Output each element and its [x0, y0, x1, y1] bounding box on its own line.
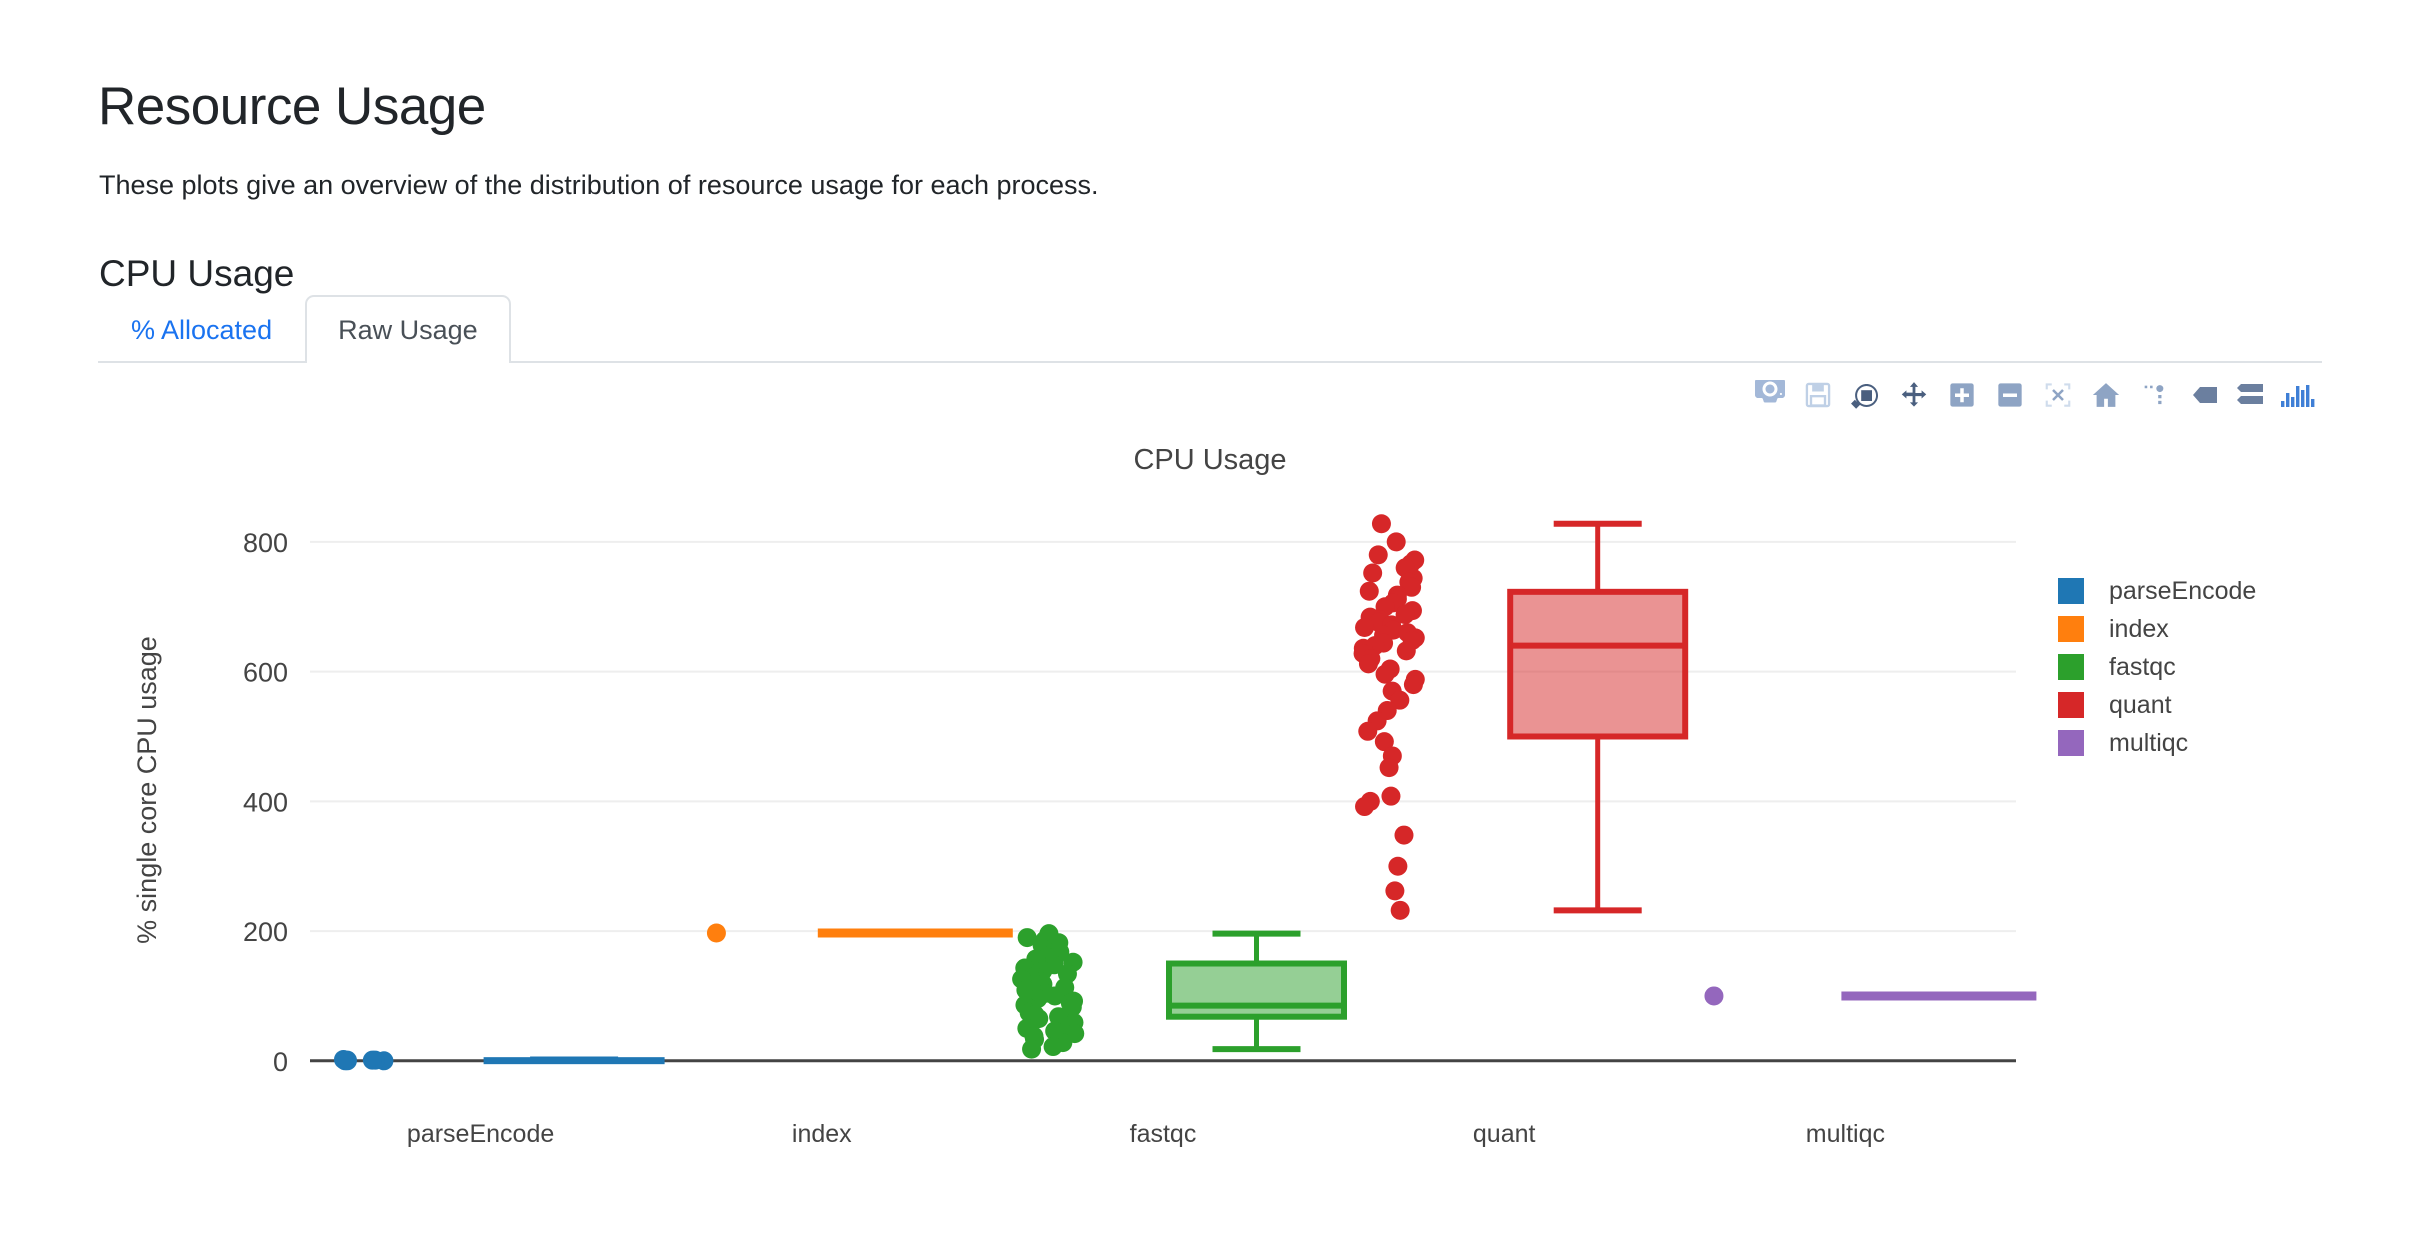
y-tick-200: 200: [243, 917, 288, 947]
legend-item-index[interactable]: index: [2058, 610, 2308, 648]
box-group-fastqc[interactable]: [1012, 924, 1344, 1058]
page-title: Resource Usage: [98, 78, 486, 136]
box-point: [1355, 618, 1374, 637]
box-point: [1363, 564, 1382, 583]
box-point: [363, 1051, 382, 1070]
tab-percent-allocated[interactable]: % Allocated: [98, 295, 305, 363]
legend-label-fastqc: fastqc: [2109, 653, 2176, 682]
box-point: [1388, 857, 1407, 876]
box-rect: [1510, 592, 1685, 737]
legend-item-fastqc[interactable]: fastqc: [2058, 648, 2308, 686]
box-plot-canvas[interactable]: 0200400600800% single core CPU usagepars…: [98, 372, 2322, 1172]
x-tick-parseEncode: parseEncode: [407, 1120, 554, 1148]
legend-swatch-index: [2058, 616, 2084, 642]
box-point: [1381, 787, 1400, 806]
chart-legend: parseEncode index fastqc quant multiqc: [2058, 572, 2308, 762]
cpu-usage-tabs: % Allocated Raw Usage: [98, 295, 2322, 363]
box-point: [1385, 881, 1404, 900]
legend-label-parseEncode: parseEncode: [2109, 577, 2256, 606]
x-tick-fastqc: fastqc: [1130, 1120, 1197, 1148]
box-point: [1387, 532, 1406, 551]
box-group-multiqc[interactable]: [1704, 986, 2036, 1005]
x-tick-quant: quant: [1473, 1120, 1536, 1148]
box-point: [1022, 1040, 1041, 1059]
box-point: [1358, 722, 1377, 741]
box-point: [1397, 641, 1416, 660]
box-point: [1376, 665, 1395, 684]
legend-item-quant[interactable]: quant: [2058, 686, 2308, 724]
y-axis-title: % single core CPU usage: [132, 636, 162, 944]
y-tick-0: 0: [273, 1047, 288, 1077]
box-point: [1369, 545, 1388, 564]
box-point: [1391, 901, 1410, 920]
y-tick-800: 800: [243, 528, 288, 558]
legend-swatch-parseEncode: [2058, 578, 2084, 604]
legend-label-index: index: [2109, 615, 2169, 644]
box-group-index[interactable]: [707, 924, 1013, 943]
x-tick-index: index: [792, 1120, 852, 1148]
box-group-quant[interactable]: [1354, 514, 1686, 920]
y-tick-400: 400: [243, 787, 288, 817]
legend-label-quant: quant: [2109, 691, 2172, 720]
box-group-parseEncode[interactable]: [334, 1050, 662, 1070]
box-point: [1359, 654, 1378, 673]
legend-item-multiqc[interactable]: multiqc: [2058, 724, 2308, 762]
x-tick-multiqc: multiqc: [1806, 1120, 1885, 1148]
legend-swatch-multiqc: [2058, 730, 2084, 756]
resource-usage-page: Resource Usage These plots give an overv…: [0, 0, 2420, 1238]
box-rect: [1169, 964, 1344, 1017]
box-point: [334, 1050, 353, 1069]
box-point: [707, 924, 726, 943]
page-description: These plots give an overview of the dist…: [99, 170, 1099, 201]
box-point: [1704, 986, 1723, 1005]
legend-item-parseEncode[interactable]: parseEncode: [2058, 572, 2308, 610]
legend-swatch-fastqc: [2058, 654, 2084, 680]
y-tick-600: 600: [243, 658, 288, 688]
box-point: [1360, 582, 1379, 601]
box-point: [1044, 1037, 1063, 1056]
tab-raw-usage[interactable]: Raw Usage: [305, 295, 511, 363]
box-point: [1394, 826, 1413, 845]
box-point: [1355, 797, 1374, 816]
legend-label-multiqc: multiqc: [2109, 729, 2188, 758]
legend-swatch-quant: [2058, 692, 2084, 718]
section-title-cpu-usage: CPU Usage: [99, 253, 294, 295]
box-point: [1380, 758, 1399, 777]
box-point: [1404, 675, 1423, 694]
cpu-usage-plot: CPU Usage 0200400600800% single core CPU…: [98, 372, 2322, 1172]
box-point: [1372, 514, 1391, 533]
